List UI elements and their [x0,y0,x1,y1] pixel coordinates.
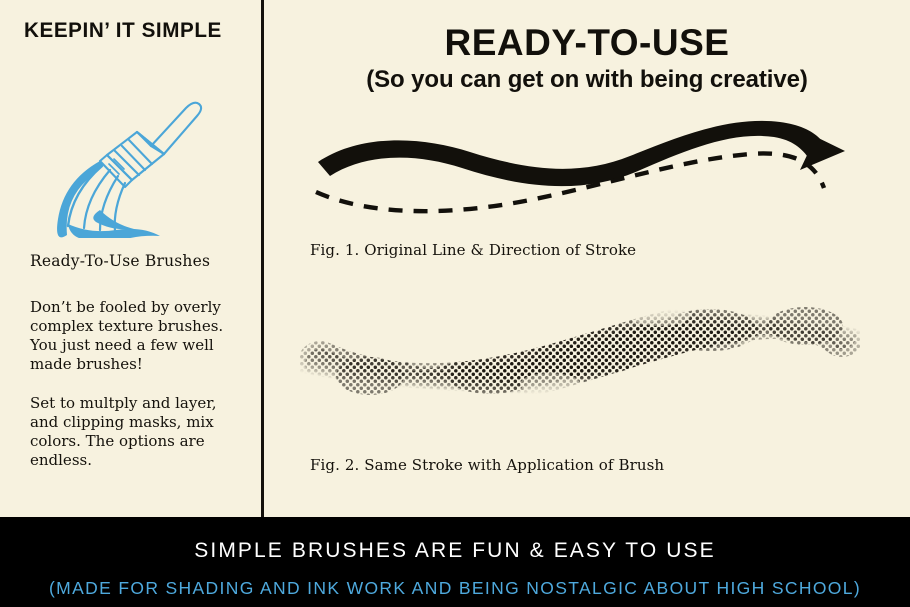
poster-canvas: KEEPIN’ IT SIMPLE [0,0,910,607]
left-panel-subtitle: Ready-To-Use Brushes [30,252,210,270]
halftone-brush-stroke [300,292,860,422]
page-subtitle: (So you can get on with being creative) [264,66,910,94]
figure-2-caption: Fig. 2. Same Stroke with Application of … [310,456,664,474]
page-title: READY-TO-USE [264,22,910,64]
footer-subline: (MADE FOR SHADING AND INK WORK AND BEING… [0,578,910,599]
footer-headline: SIMPLE BRUSHES ARE FUN & EASY TO USE [0,539,910,563]
figure-1-caption: Fig. 1. Original Line & Direction of Str… [310,241,636,259]
left-panel: KEEPIN’ IT SIMPLE [0,0,261,517]
stroke-arrow-with-dashed-guide [300,104,860,224]
paintbrush-illustration [40,88,230,238]
footer-banner: SIMPLE BRUSHES ARE FUN & EASY TO USE (MA… [0,517,910,607]
page-kicker: KEEPIN’ IT SIMPLE [24,18,235,43]
body-paragraph-2: Set to multply and layer, and clipping m… [30,394,236,470]
left-panel-body: Don’t be fooled by overly complex textur… [30,298,236,470]
body-paragraph-1: Don’t be fooled by overly complex textur… [30,298,236,374]
right-panel: READY-TO-USE (So you can get on with bei… [264,0,910,517]
